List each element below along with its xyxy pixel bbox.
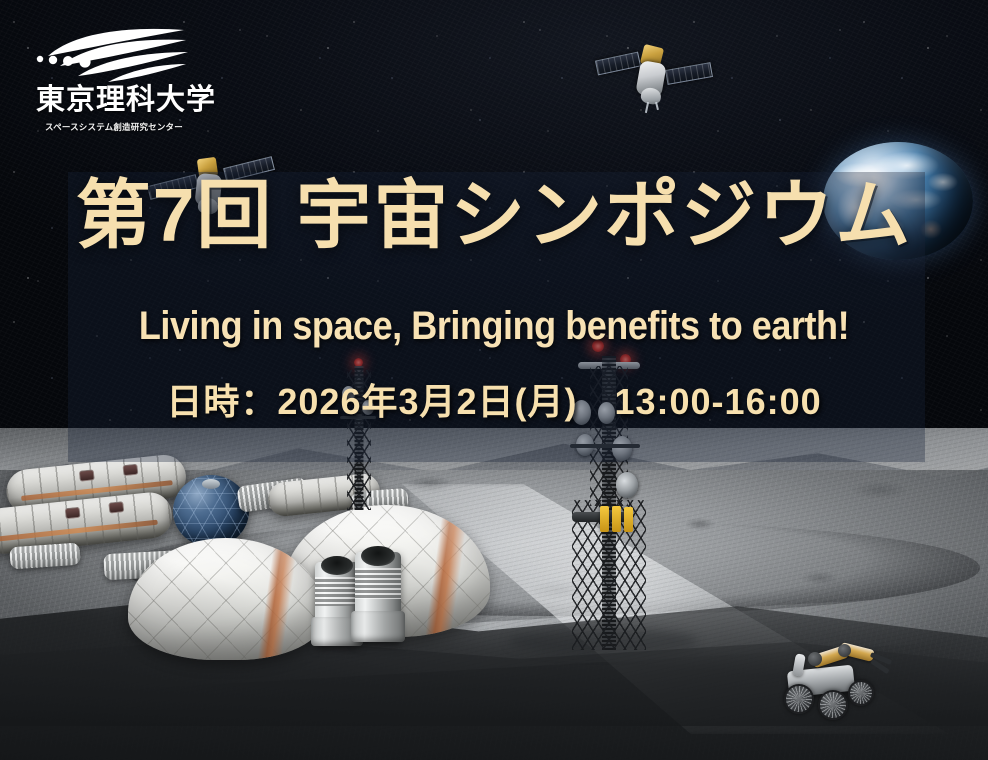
rover-wheel bbox=[784, 684, 814, 714]
inflatable-dome-habitat-icon bbox=[128, 538, 324, 660]
rover-wheel bbox=[848, 680, 874, 706]
page-subtitle: Living in space, Bringing benefits to ea… bbox=[49, 306, 938, 346]
dome-shading bbox=[128, 538, 324, 660]
page-title: 第7回 宇宙シンポジウム bbox=[0, 178, 988, 253]
rover-wheel bbox=[818, 690, 848, 720]
rover-arm-joint bbox=[808, 652, 822, 666]
equipment-panel bbox=[600, 506, 609, 532]
logo-university-name: 東京理科大学 bbox=[36, 86, 192, 115]
equipment-panel bbox=[612, 506, 621, 532]
antenna-boom-2 bbox=[655, 102, 659, 110]
equipment-panel bbox=[624, 507, 633, 532]
module-port bbox=[108, 501, 124, 514]
antenna-boom bbox=[645, 102, 649, 113]
satellite-icon bbox=[594, 26, 714, 112]
geodesic-sphere-habitat-icon bbox=[173, 475, 249, 547]
docking-nozzle-icon bbox=[355, 552, 401, 642]
swoosh-orbit-logo-icon bbox=[34, 26, 194, 84]
logo-center-name: スペースシステム創造研究センター bbox=[34, 121, 194, 133]
nozzle-threads bbox=[315, 577, 359, 606]
module-port bbox=[122, 464, 138, 477]
tus-logo: 東京理科大学 スペースシステム創造研究センター bbox=[34, 26, 194, 136]
nozzle-mouth bbox=[321, 556, 353, 574]
space-symposium-poster: 東京理科大学 スペースシステム創造研究センター 第7回 宇宙シンポジウム Liv… bbox=[0, 0, 988, 760]
nozzle-mouth bbox=[361, 546, 394, 566]
rover-arm-joint bbox=[838, 644, 851, 657]
nozzle-threads bbox=[355, 568, 401, 599]
module-port bbox=[65, 507, 81, 520]
tower-ground-shadow bbox=[508, 628, 698, 654]
lunar-rover-icon bbox=[778, 632, 908, 728]
antenna-dish-icon bbox=[616, 472, 638, 498]
module-port bbox=[79, 469, 95, 482]
event-datetime: 日時：2026年3月2日(月) 13:00-16:00 bbox=[0, 384, 988, 420]
solar-panel-left bbox=[595, 52, 641, 76]
nozzle-base bbox=[351, 611, 404, 642]
solar-panel-right bbox=[665, 62, 713, 85]
